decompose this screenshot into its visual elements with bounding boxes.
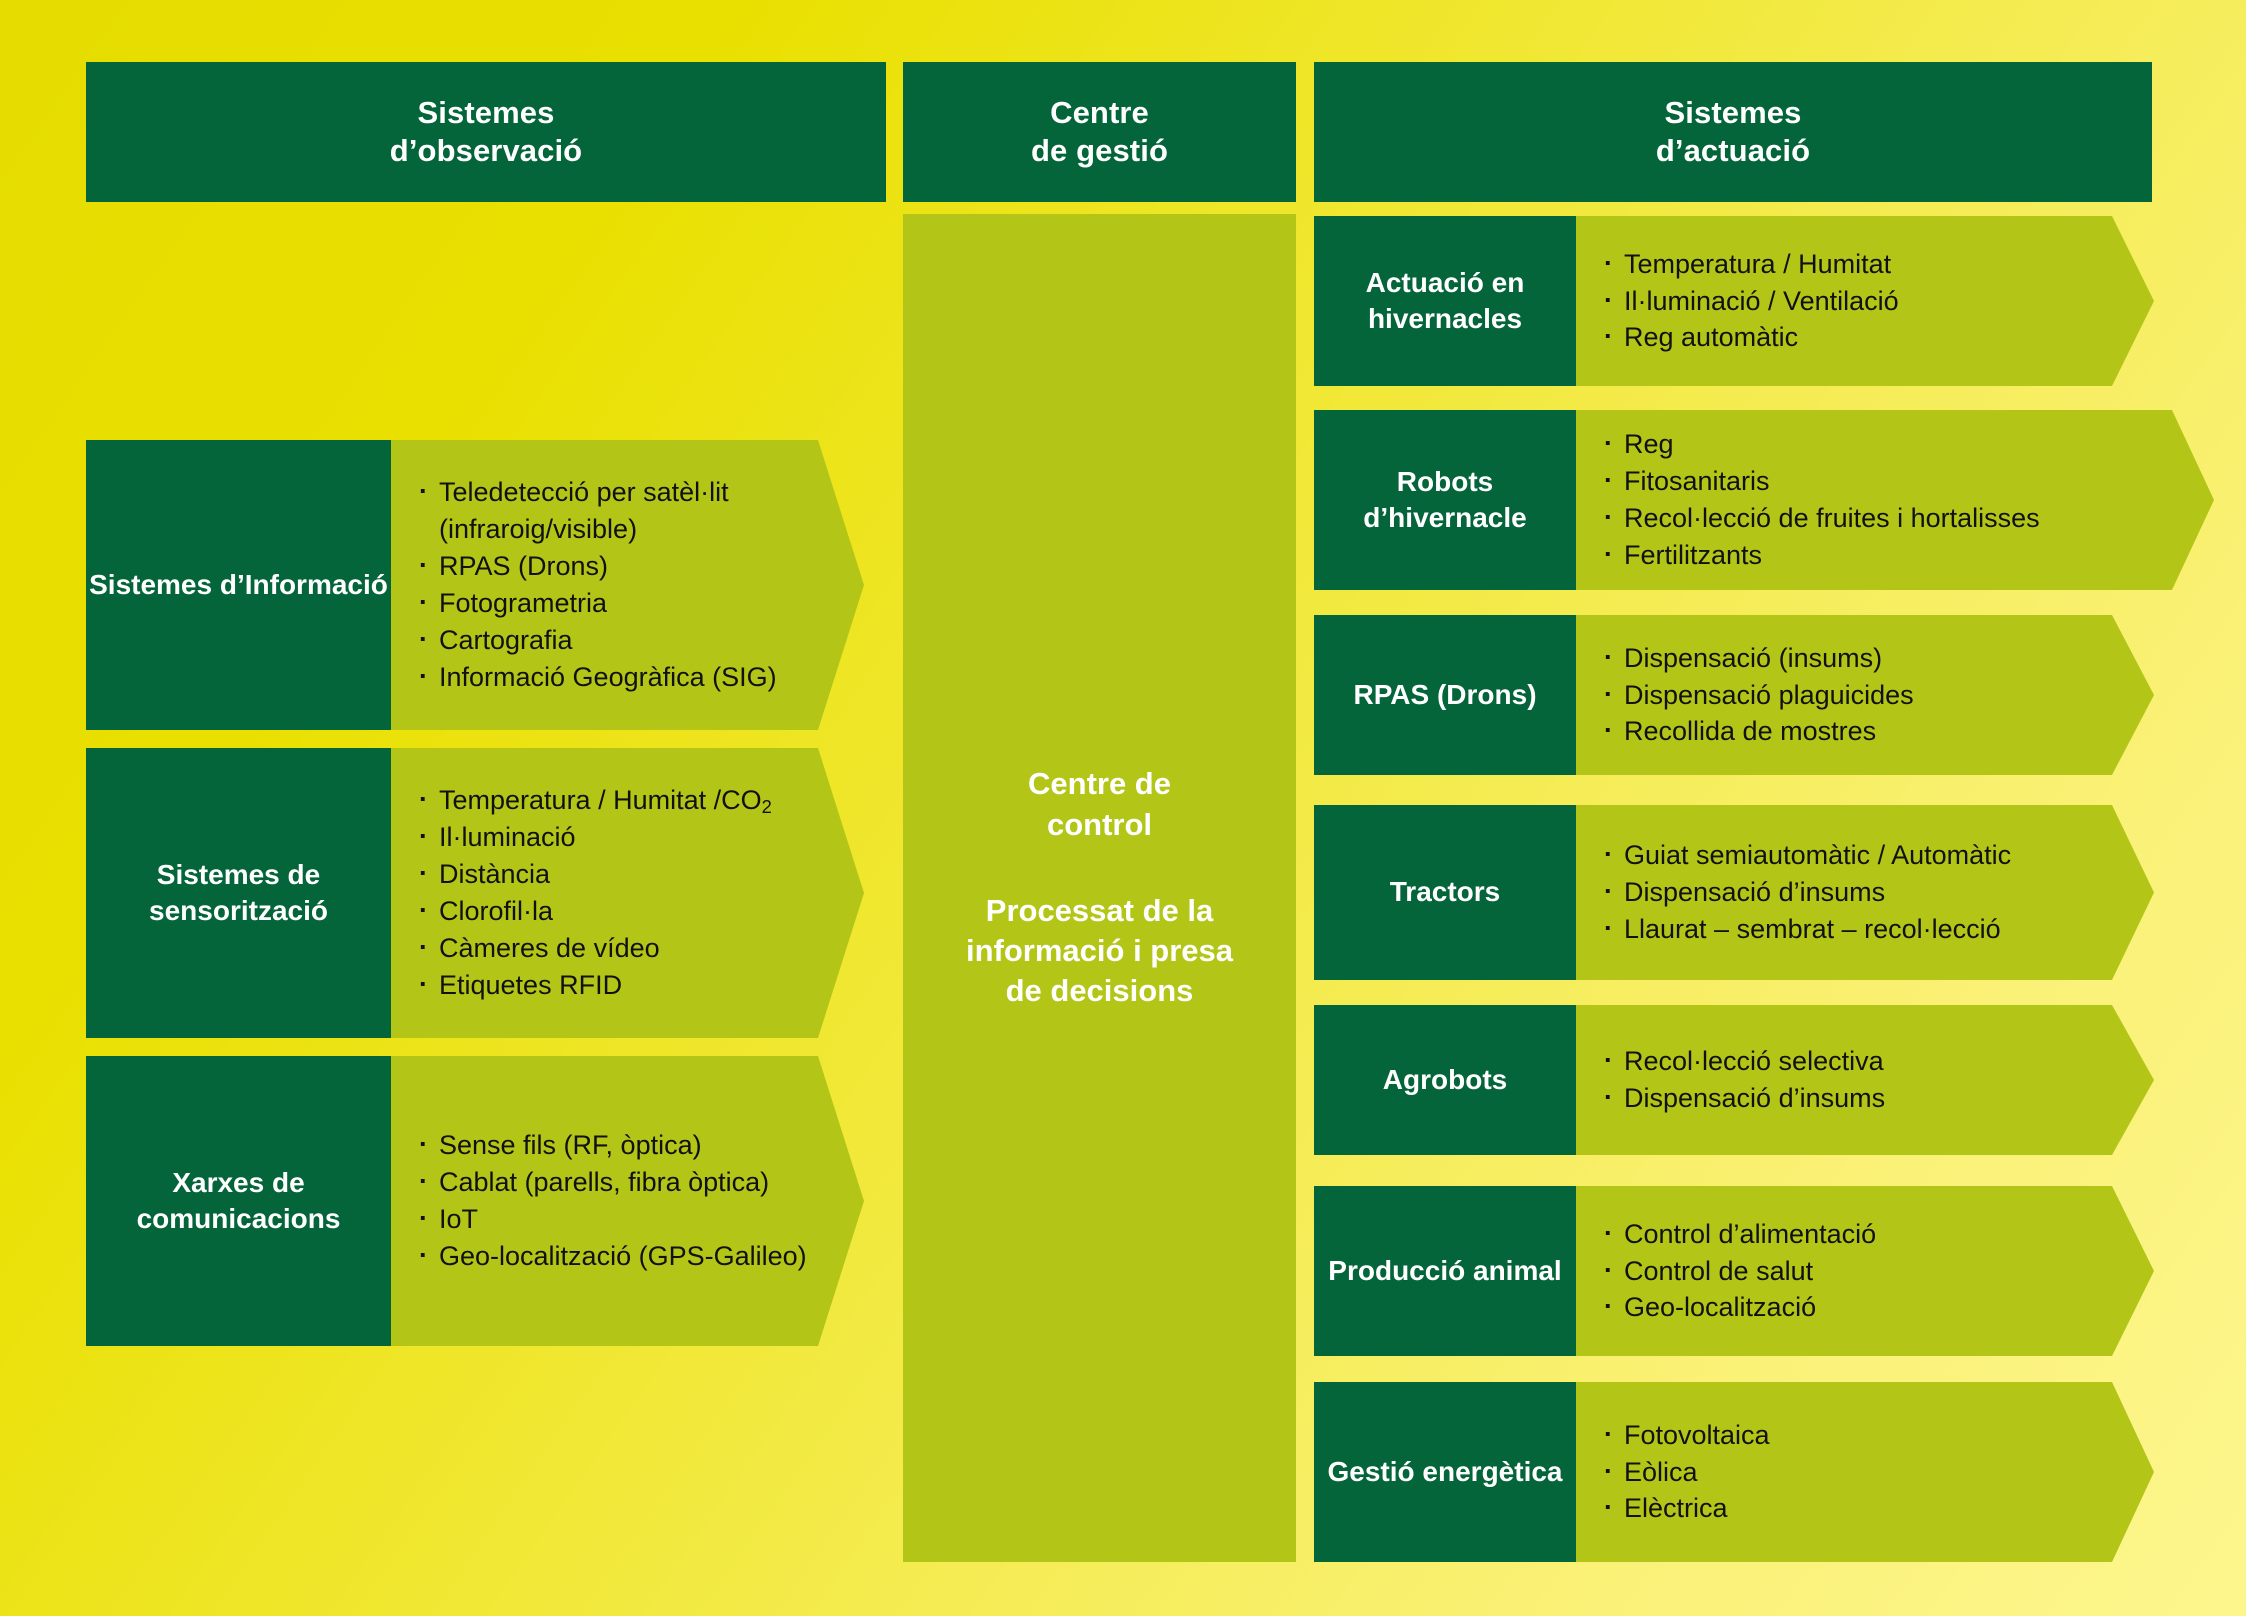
- list-item: Teledetecció per satèl·lit: [417, 474, 777, 511]
- label-line2: (Drons): [1437, 679, 1537, 710]
- list-item: Reg automàtic: [1602, 319, 1899, 356]
- label-line1: Producció: [1328, 1255, 1465, 1286]
- list-item: Eòlica: [1602, 1454, 1770, 1491]
- actuation-body-tractors: Guiat semiautomàtic / Automàtic Dispensa…: [1576, 805, 2154, 980]
- control-centre-spacer: [966, 845, 1233, 891]
- observation-list-communication-networks: Sense fils (RF, òptica) Cablat (parells,…: [391, 1127, 807, 1275]
- label-line1: Robots: [1397, 466, 1493, 497]
- list-item: Dispensació (insums): [1602, 640, 1914, 677]
- observation-label-information-systems: Sistemes d’Informació: [86, 440, 391, 730]
- header-actuation-line2: d’actuació: [1656, 132, 1810, 170]
- list-item: Distància: [417, 856, 772, 893]
- label-line2: energètica: [1422, 1456, 1562, 1487]
- subscript-2: 2: [762, 796, 772, 817]
- list-item: Fertilitzants: [1602, 537, 2040, 574]
- header-management-line1: Centre: [1031, 94, 1168, 132]
- actuation-list-tractors: Guiat semiautomàtic / Automàtic Dispensa…: [1576, 837, 2011, 948]
- observation-row-communication-networks: Xarxes de comunicacions Sense fils (RF, …: [86, 1056, 864, 1346]
- actuation-body-greenhouse-actuation: Temperatura / Humitat Il·luminació / Ven…: [1576, 216, 2154, 386]
- actuation-body-agrobots: Recol·lecció selectiva Dispensació d’ins…: [1576, 1005, 2154, 1155]
- list-item: Fotovoltaica: [1602, 1417, 1770, 1454]
- list-item: Control d’alimentació: [1602, 1216, 1876, 1253]
- label-line2: sensorització: [149, 895, 328, 926]
- list-item: Llaurat – sembrat – recol·lecció: [1602, 911, 2011, 948]
- observation-row-sensor-systems: Sistemes de sensorització Temperatura / …: [86, 748, 864, 1038]
- header-management-line2: de gestió: [1031, 132, 1168, 170]
- list-item: Fotogrametria: [417, 585, 777, 622]
- actuation-row-animal-production: Producció animal Control d’alimentació C…: [1314, 1186, 2154, 1356]
- diagram-canvas: Sistemes d’observació Centre de gestió S…: [0, 0, 2246, 1616]
- actuation-row-greenhouse-actuation: Actuació en hivernacles Temperatura / Hu…: [1314, 216, 2154, 386]
- list-item: Control de salut: [1602, 1253, 1876, 1290]
- actuation-row-agrobots: Agrobots Recol·lecció selectiva Dispensa…: [1314, 1005, 2154, 1155]
- actuation-row-rpas-drones: RPAS (Drons) Dispensació (insums) Dispen…: [1314, 615, 2154, 775]
- list-item: Sense fils (RF, òptica): [417, 1127, 807, 1164]
- list-item: Geo-localització: [1602, 1289, 1876, 1326]
- list-item: Càmeres de vídeo: [417, 930, 772, 967]
- actuation-label-energy-management: Gestió energètica: [1314, 1382, 1576, 1562]
- header-observation-systems: Sistemes d’observació: [86, 62, 886, 202]
- list-item: Elèctrica: [1602, 1490, 1770, 1527]
- actuation-list-energy-management: Fotovoltaica Eòlica Elèctrica: [1576, 1417, 1770, 1528]
- header-observation-line1: Sistemes: [390, 94, 582, 132]
- list-item: Cablat (parells, fibra òptica): [417, 1164, 807, 1201]
- control-centre-subtitle-line1: Processat de la: [966, 891, 1233, 931]
- label-line2: comunicacions: [137, 1203, 341, 1234]
- actuation-list-rpas-drones: Dispensació (insums) Dispensació plaguic…: [1576, 640, 1914, 751]
- list-item: IoT: [417, 1201, 807, 1238]
- actuation-body-greenhouse-robots: Reg Fitosanitaris Recol·lecció de fruite…: [1576, 410, 2214, 590]
- header-management-centre: Centre de gestió: [903, 62, 1296, 202]
- list-item: Temperatura / Humitat: [1602, 246, 1899, 283]
- observation-list-information-systems: Teledetecció per satèl·lit (infraroig/vi…: [391, 474, 777, 696]
- list-item: Dispensació d’insums: [1602, 874, 2011, 911]
- label-line1: Xarxes de: [172, 1167, 304, 1198]
- list-item: Cartografia: [417, 622, 777, 659]
- actuation-row-energy-management: Gestió energètica Fotovoltaica Eòlica El…: [1314, 1382, 2154, 1562]
- control-centre-title-line2: control: [966, 805, 1233, 845]
- observation-body-information-systems: Teledetecció per satèl·lit (infraroig/vi…: [391, 440, 864, 730]
- label-line2: d’Informació: [220, 569, 388, 600]
- observation-body-sensor-systems: Temperatura / Humitat /CO2 Il·luminació …: [391, 748, 864, 1038]
- list-item: Dispensació d’insums: [1602, 1080, 1885, 1117]
- list-item: RPAS (Drons): [417, 548, 777, 585]
- actuation-list-agrobots: Recol·lecció selectiva Dispensació d’ins…: [1576, 1043, 1885, 1117]
- actuation-list-greenhouse-robots: Reg Fitosanitaris Recol·lecció de fruite…: [1576, 426, 2040, 574]
- actuation-label-agrobots: Agrobots: [1314, 1005, 1576, 1155]
- list-item: Recollida de mostres: [1602, 713, 1914, 750]
- header-actuation-line1: Sistemes: [1656, 94, 1810, 132]
- list-item: Fitosanitaris: [1602, 463, 2040, 500]
- actuation-label-animal-production: Producció animal: [1314, 1186, 1576, 1356]
- list-item: Il·luminació: [417, 819, 772, 856]
- observation-row-information-systems: Sistemes d’Informació Teledetecció per s…: [86, 440, 864, 730]
- actuation-body-energy-management: Fotovoltaica Eòlica Elèctrica: [1576, 1382, 2154, 1562]
- actuation-list-greenhouse-actuation: Temperatura / Humitat Il·luminació / Ven…: [1576, 246, 1899, 357]
- label-line1: Sistemes de: [157, 859, 320, 890]
- control-centre-subtitle-line2: informació i presa: [966, 931, 1233, 971]
- actuation-label-greenhouse-robots: Robots d’hivernacle: [1314, 410, 1576, 590]
- actuation-label-greenhouse-actuation: Actuació en hivernacles: [1314, 216, 1576, 386]
- control-centre-subtitle-line3: de decisions: [966, 971, 1233, 1011]
- list-item: Geo-localització (GPS-Galileo): [417, 1238, 807, 1275]
- control-centre-title-line1: Centre de: [966, 764, 1233, 804]
- label-line1: RPAS: [1353, 679, 1429, 710]
- label-line2: animal: [1473, 1255, 1562, 1286]
- list-item: Temperatura / Humitat /CO2: [417, 782, 772, 819]
- label-line1: Agrobots: [1383, 1064, 1507, 1095]
- list-item: Reg: [1602, 426, 2040, 463]
- label-line1: Tractors: [1390, 876, 1501, 907]
- observation-label-sensor-systems: Sistemes de sensorització: [86, 748, 391, 1038]
- observation-body-communication-networks: Sense fils (RF, òptica) Cablat (parells,…: [391, 1056, 864, 1346]
- label-line2: d’hivernacle: [1363, 502, 1526, 533]
- label-line1: Actuació en: [1366, 267, 1525, 298]
- list-item: Etiquetes RFID: [417, 967, 772, 1004]
- control-centre-panel: Centre de control Processat de la inform…: [903, 214, 1296, 1562]
- actuation-row-tractors: Tractors Guiat semiautomàtic / Automàtic…: [1314, 805, 2154, 980]
- list-item: Dispensació plaguicides: [1602, 677, 1914, 714]
- list-item: Informació Geogràfica (SIG): [417, 659, 777, 696]
- header-actuation-systems: Sistemes d’actuació: [1314, 62, 2152, 202]
- observation-list-sensor-systems: Temperatura / Humitat /CO2 Il·luminació …: [391, 782, 772, 1004]
- label-line2: hivernacles: [1368, 303, 1522, 334]
- list-item: Il·luminació / Ventilació: [1602, 283, 1899, 320]
- actuation-body-animal-production: Control d’alimentació Control de salut G…: [1576, 1186, 2154, 1356]
- header-observation-line2: d’observació: [390, 132, 582, 170]
- actuation-row-greenhouse-robots: Robots d’hivernacle Reg Fitosanitaris Re…: [1314, 410, 2214, 590]
- list-item: Guiat semiautomàtic / Automàtic: [1602, 837, 2011, 874]
- actuation-body-rpas-drones: Dispensació (insums) Dispensació plaguic…: [1576, 615, 2154, 775]
- list-item: Recol·lecció selectiva: [1602, 1043, 1885, 1080]
- actuation-label-rpas-drones: RPAS (Drons): [1314, 615, 1576, 775]
- list-item: Clorofil·la: [417, 893, 772, 930]
- label-line1: Gestió: [1328, 1456, 1415, 1487]
- list-item: (infraroig/visible): [417, 511, 777, 548]
- label-line1: Sistemes: [89, 569, 212, 600]
- actuation-list-animal-production: Control d’alimentació Control de salut G…: [1576, 1216, 1876, 1327]
- observation-label-communication-networks: Xarxes de comunicacions: [86, 1056, 391, 1346]
- actuation-label-tractors: Tractors: [1314, 805, 1576, 980]
- list-item: Recol·lecció de fruites i hortalisses: [1602, 500, 2040, 537]
